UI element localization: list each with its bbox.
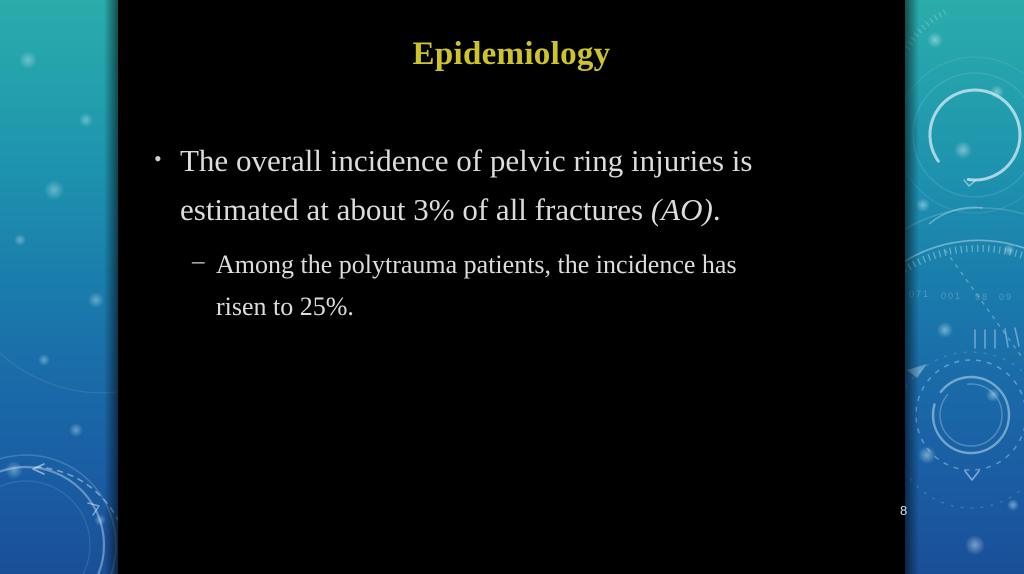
left-panel-hud-graphics <box>0 0 118 574</box>
bullet-item-primary: • The overall incidence of pelvic ring i… <box>154 136 874 234</box>
svg-text:0: 0 <box>948 291 953 301</box>
svg-text:1: 1 <box>955 291 960 301</box>
svg-text:9: 9 <box>975 292 980 302</box>
slide-body: • The overall incidence of pelvic ring i… <box>154 136 874 328</box>
presentation-slide: Epidemiology • The overall incidence of … <box>0 0 1024 574</box>
left-panel-edge-shadow <box>104 0 118 574</box>
right-panel-hud-graphics: 0 7 1 0 0 1 9 8 0 9 <box>905 0 1024 574</box>
right-panel-edge-shadow <box>905 0 919 574</box>
left-decorative-panel <box>0 0 118 574</box>
bullet-text-primary-tail: . <box>713 192 721 227</box>
bullet-text-primary: The overall incidence of pelvic ring inj… <box>180 136 800 234</box>
svg-text:0: 0 <box>999 292 1004 302</box>
bullet-text-secondary: Among the polytrauma patients, the incid… <box>216 244 756 328</box>
slide-content-stage: Epidemiology • The overall incidence of … <box>118 0 905 574</box>
right-decorative-panel: 0 7 1 0 0 1 9 8 0 9 <box>905 0 1024 574</box>
svg-text:8: 8 <box>982 292 987 302</box>
bullet-item-secondary: – Among the polytrauma patients, the inc… <box>192 244 874 328</box>
bullet-text-primary-citation: (AO) <box>651 192 713 227</box>
slide-number: 8 <box>900 503 907 518</box>
svg-text:1: 1 <box>923 289 928 299</box>
slide-title: Epidemiology <box>118 36 905 73</box>
bullet-dot-icon: • <box>154 136 180 170</box>
bullet-dash-icon: – <box>192 244 216 274</box>
svg-text:0: 0 <box>941 291 946 301</box>
svg-text:9: 9 <box>1006 292 1011 302</box>
